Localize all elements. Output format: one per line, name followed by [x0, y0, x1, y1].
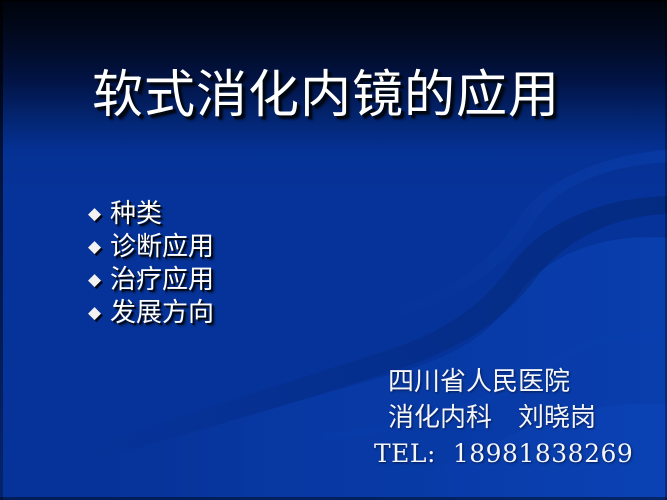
slide-edge-left	[0, 0, 3, 500]
slide-footer: 四川省人民医院 消化内科 刘晓岗 TEL: 18981838269	[388, 364, 663, 472]
list-item: ◆ 诊断应用	[88, 231, 418, 264]
presentation-slide: 软式消化内镜的应用 ◆ 种类 ◆ 诊断应用 ◆ 治疗应用 ◆ 发展方向 四川省人…	[0, 0, 667, 500]
bullet-label: 治疗应用	[110, 264, 214, 297]
footer-telephone: TEL: 18981838269	[374, 436, 663, 472]
footer-institution: 四川省人民医院	[388, 364, 663, 400]
list-item: ◆ 治疗应用	[88, 264, 418, 297]
bullet-label: 发展方向	[110, 297, 214, 330]
list-item: ◆ 发展方向	[88, 297, 418, 330]
diamond-bullet-icon: ◆	[88, 264, 110, 297]
slide-title: 软式消化内镜的应用	[92, 64, 612, 128]
footer-department-author: 消化内科 刘晓岗	[388, 400, 663, 436]
slide-bullet-list: ◆ 种类 ◆ 诊断应用 ◆ 治疗应用 ◆ 发展方向	[88, 198, 418, 330]
diamond-bullet-icon: ◆	[88, 297, 110, 330]
list-item: ◆ 种类	[88, 198, 418, 231]
bullet-label: 诊断应用	[110, 231, 214, 264]
bullet-label: 种类	[110, 198, 162, 231]
slide-edge-top	[0, 0, 667, 2]
diamond-bullet-icon: ◆	[88, 198, 110, 231]
diamond-bullet-icon: ◆	[88, 231, 110, 264]
